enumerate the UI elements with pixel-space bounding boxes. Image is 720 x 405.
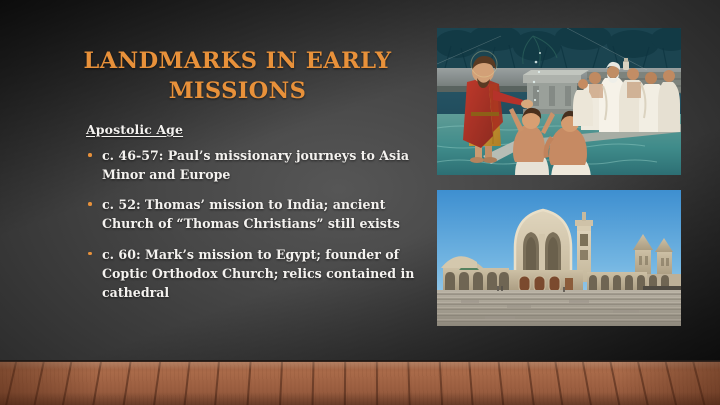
presentation-slide: Landmarks in Early Missions Apostolic Ag… xyxy=(0,0,720,405)
slide-body: Apostolic Age c. 46-57: Paul’s missionar… xyxy=(86,122,416,313)
floor-shading xyxy=(0,362,720,405)
list-item: c. 60: Mark’s mission to Egypt; founder … xyxy=(86,245,416,302)
list-item: c. 52: Thomas’ mission to India; ancient… xyxy=(86,195,416,233)
wooden-floor xyxy=(0,362,720,405)
list-item: c. 46-57: Paul’s missionary journeys to … xyxy=(86,146,416,184)
baptism-mural-image xyxy=(437,28,681,175)
page-title: Landmarks in Early Missions xyxy=(70,47,405,107)
coptic-cathedral-image xyxy=(437,190,681,326)
section-subheading: Apostolic Age xyxy=(86,122,416,137)
bullet-list: c. 46-57: Paul’s missionary journeys to … xyxy=(86,146,416,302)
